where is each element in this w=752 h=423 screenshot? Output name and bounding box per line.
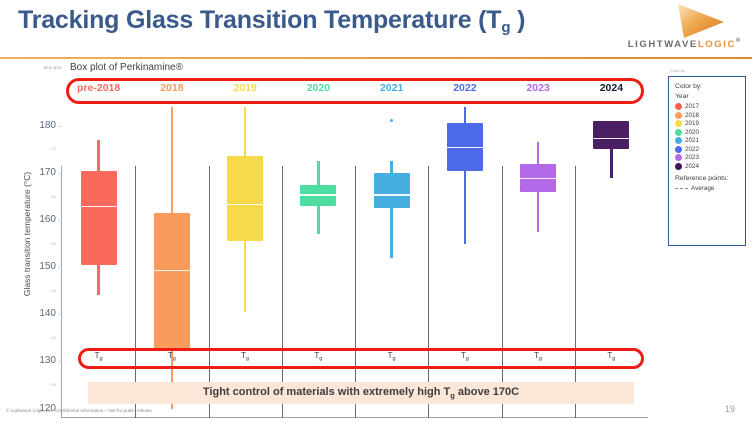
y-tick-label: 150 [30, 261, 56, 272]
legend-item-label: 2021 [685, 137, 699, 144]
x-tick-label-tg: Tg [283, 351, 353, 362]
y-axis-title: Glass transition temperature (°C) [22, 159, 32, 309]
page-title-tail: ) [510, 6, 525, 34]
group-separator [355, 166, 356, 418]
x-axis-tick-label-row: TgTgTgTgTgTgTgTg [62, 351, 648, 367]
group-separator [135, 166, 136, 418]
legend-color-swatch [675, 103, 682, 110]
y-tick-label: 160 [30, 214, 56, 225]
group-separator [209, 166, 210, 418]
legend-item-2023[interactable]: 2023 [675, 154, 740, 161]
year-label-2023[interactable]: 2023 [498, 82, 578, 94]
legend-color-swatch [675, 163, 682, 170]
legend-item-label: 2018 [685, 112, 699, 119]
chart-title: Box plot of Perkinamine® [70, 62, 183, 73]
legend-item-2024[interactable]: 2024 [675, 163, 740, 170]
brand-wordmark-gray: LIGHTWAVE [628, 39, 698, 50]
legend-items: 20172018201920202021202220232024 [675, 103, 740, 170]
legend-title-line1: Color by: [675, 82, 740, 92]
median-line [593, 138, 629, 139]
legend-color-swatch [675, 137, 682, 144]
x-tick-label-tg: Tg [576, 351, 646, 362]
year-label-2022[interactable]: 2022 [425, 82, 505, 94]
legend-item-2017[interactable]: 2017 [675, 103, 740, 110]
legend-color-swatch [675, 154, 682, 161]
y-tick-label: 130 [30, 355, 56, 366]
year-label-2020[interactable]: 2020 [278, 82, 358, 94]
summary-text-pre: Tight control of materials with extremel… [203, 386, 450, 398]
legend-item-label: 2019 [685, 120, 699, 127]
legend-reference-label: Average [691, 185, 714, 192]
x-tick-label-tg: Tg [137, 351, 207, 362]
legend-item-2019[interactable]: 2019 [675, 120, 740, 127]
y-minor-tick-label: 165 [34, 195, 56, 199]
x-tick-label-tg: Tg [210, 351, 280, 362]
y-minor-tick-label: 135 [34, 336, 56, 340]
group-separator [575, 166, 576, 418]
chart-container: Box plot Box plot of Perkinamine® Glass … [0, 59, 752, 379]
y-minor-tick-label: 175 [34, 147, 56, 151]
legend-reference-average[interactable]: Average [675, 185, 740, 192]
summary-banner: Tight control of materials with extremel… [88, 382, 634, 404]
chart-type-tag: Box plot [44, 65, 62, 70]
y-minor-tick-label: 145 [34, 289, 56, 293]
legend-color-swatch [675, 146, 682, 153]
year-label-row: pre-20182018201920202021202220232024 [62, 82, 648, 100]
lightwave-logic-triangle-icon [674, 2, 728, 40]
y-tick-label: 140 [30, 308, 56, 319]
legend-item-label: 2022 [685, 146, 699, 153]
legend-item-2018[interactable]: 2018 [675, 112, 740, 119]
legend-item-label: 2020 [685, 129, 699, 136]
page-title-main: Tracking Glass Transition Temperature (T [18, 6, 501, 34]
page-title: Tracking Glass Transition Temperature (T… [18, 6, 525, 36]
year-label-2019[interactable]: 2019 [205, 82, 285, 94]
legend-title-line2: Year [675, 92, 740, 102]
group-separator [502, 166, 503, 418]
legend-item-label: 2017 [685, 103, 699, 110]
y-tick-label: 180 [30, 120, 56, 131]
legend-tag: Color by [670, 68, 685, 73]
year-label-2024[interactable]: 2024 [571, 82, 651, 94]
y-minor-tick-label: 125 [34, 383, 56, 387]
x-tick-label-tg: Tg [357, 351, 427, 362]
legend-item-label: 2024 [685, 163, 699, 170]
legend-color-swatch [675, 112, 682, 119]
page-number: 19 [725, 404, 735, 414]
x-tick-label-tg: Tg [64, 351, 134, 362]
year-label-2018[interactable]: 2018 [132, 82, 212, 94]
brand-wordmark: LIGHTWAVELOGIC® [628, 38, 742, 50]
brand-wordmark-orange: LOGIC [698, 39, 736, 50]
y-tick-label: 170 [30, 167, 56, 178]
group-separator [428, 166, 429, 418]
group-separator [282, 166, 283, 418]
legend-item-2021[interactable]: 2021 [675, 137, 740, 144]
summary-banner-text: Tight control of materials with extremel… [88, 386, 634, 400]
year-label-pre-2018[interactable]: pre-2018 [59, 82, 139, 94]
legend-color-swatch [675, 129, 682, 136]
x-tick-label-tg: Tg [503, 351, 573, 362]
legend-item-2022[interactable]: 2022 [675, 146, 740, 153]
legend-color-swatch [675, 120, 682, 127]
brand-trademark: ® [736, 38, 742, 44]
box-iqr [593, 121, 629, 149]
dashed-line-icon [675, 188, 688, 189]
y-minor-tick-label: 155 [34, 242, 56, 246]
chart-legend: Color by: Year 2017201820192020202120222… [668, 76, 746, 246]
x-tick-label-tg: Tg [430, 351, 500, 362]
page-title-subscript: g [501, 19, 510, 36]
legend-reference-title: Reference points: [675, 174, 740, 184]
summary-text-post: above 170C [455, 386, 519, 398]
footer-copyright: © Lightwave Logic, Inc. Confidential Inf… [6, 408, 152, 413]
year-label-2021[interactable]: 2021 [352, 82, 432, 94]
legend-item-label: 2023 [685, 154, 699, 161]
legend-item-2020[interactable]: 2020 [675, 129, 740, 136]
brand-logo: LIGHTWAVELOGIC® [650, 2, 746, 54]
